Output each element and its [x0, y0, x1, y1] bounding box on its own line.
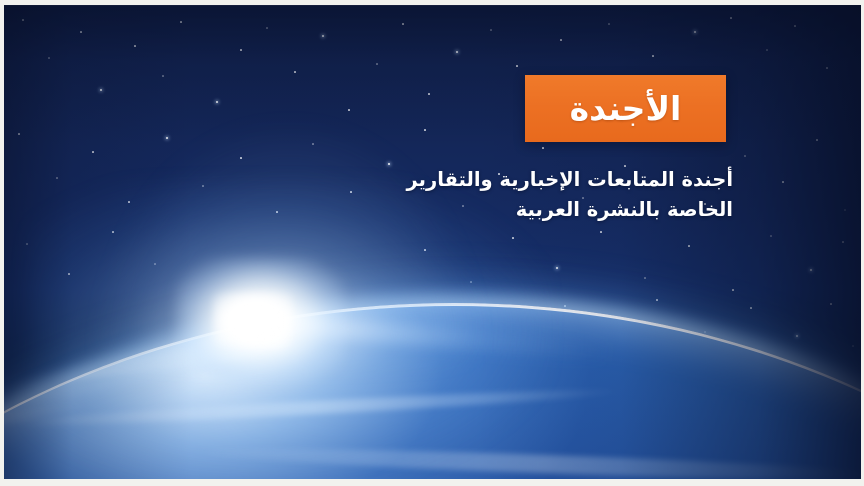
agenda-subtitle: أجندة المتابعات الإخبارية والتقارير الخا… [373, 165, 733, 224]
vignette-top [4, 5, 861, 479]
agenda-title-banner: الأجندة [525, 75, 726, 142]
slide-artwork: الأجندة أجندة المتابعات الإخبارية والتقا… [4, 5, 861, 479]
agenda-subtitle-line-2: الخاصة بالنشرة العربية [373, 195, 733, 225]
agenda-subtitle-line-1: أجندة المتابعات الإخبارية والتقارير [373, 165, 733, 195]
agenda-slide: الأجندة أجندة المتابعات الإخبارية والتقا… [0, 0, 864, 486]
agenda-title-text: الأجندة [570, 92, 682, 125]
